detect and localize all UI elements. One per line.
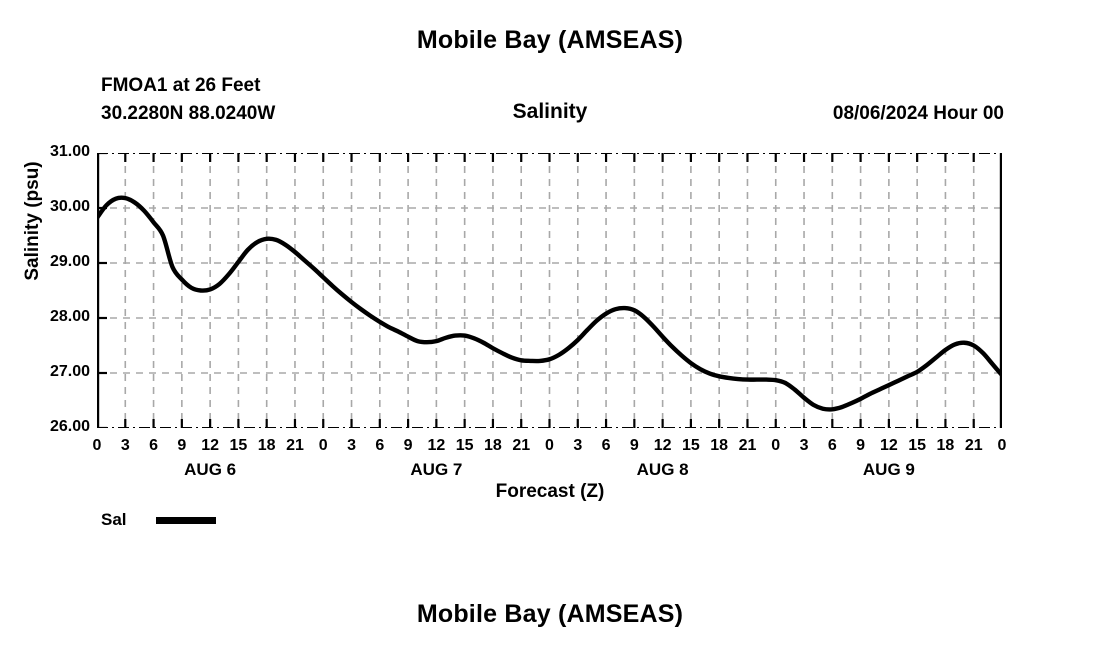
y-tick-label: 28.00 [20, 308, 90, 326]
legend-label-sal: Sal [101, 510, 127, 530]
y-tick-label: 27.00 [20, 363, 90, 381]
legend-swatch-sal [156, 517, 216, 524]
x-axis-day-label: AUG 7 [366, 460, 506, 480]
salinity-line-chart [97, 153, 1002, 428]
page-title-bottom: Mobile Bay (AMSEAS) [0, 600, 1100, 629]
y-tick-label: 26.00 [20, 418, 90, 436]
station-label: FMOA1 at 26 Feet [101, 75, 260, 97]
y-tick-label: 30.00 [20, 198, 90, 216]
x-tick-label: 0 [985, 437, 1019, 455]
x-axis-day-label: AUG 9 [819, 460, 959, 480]
x-axis-day-label: AUG 6 [140, 460, 280, 480]
forecast-datetime-label: 08/06/2024 Hour 00 [833, 103, 1004, 125]
chart-page: Mobile Bay (AMSEAS) FMOA1 at 26 Feet 30.… [0, 0, 1100, 650]
y-tick-label: 31.00 [20, 143, 90, 161]
plot-area [97, 153, 1002, 428]
x-axis-title: Forecast (Z) [0, 481, 1100, 503]
page-title-top: Mobile Bay (AMSEAS) [0, 26, 1100, 55]
y-tick-label: 29.00 [20, 253, 90, 271]
x-axis-day-label: AUG 8 [593, 460, 733, 480]
